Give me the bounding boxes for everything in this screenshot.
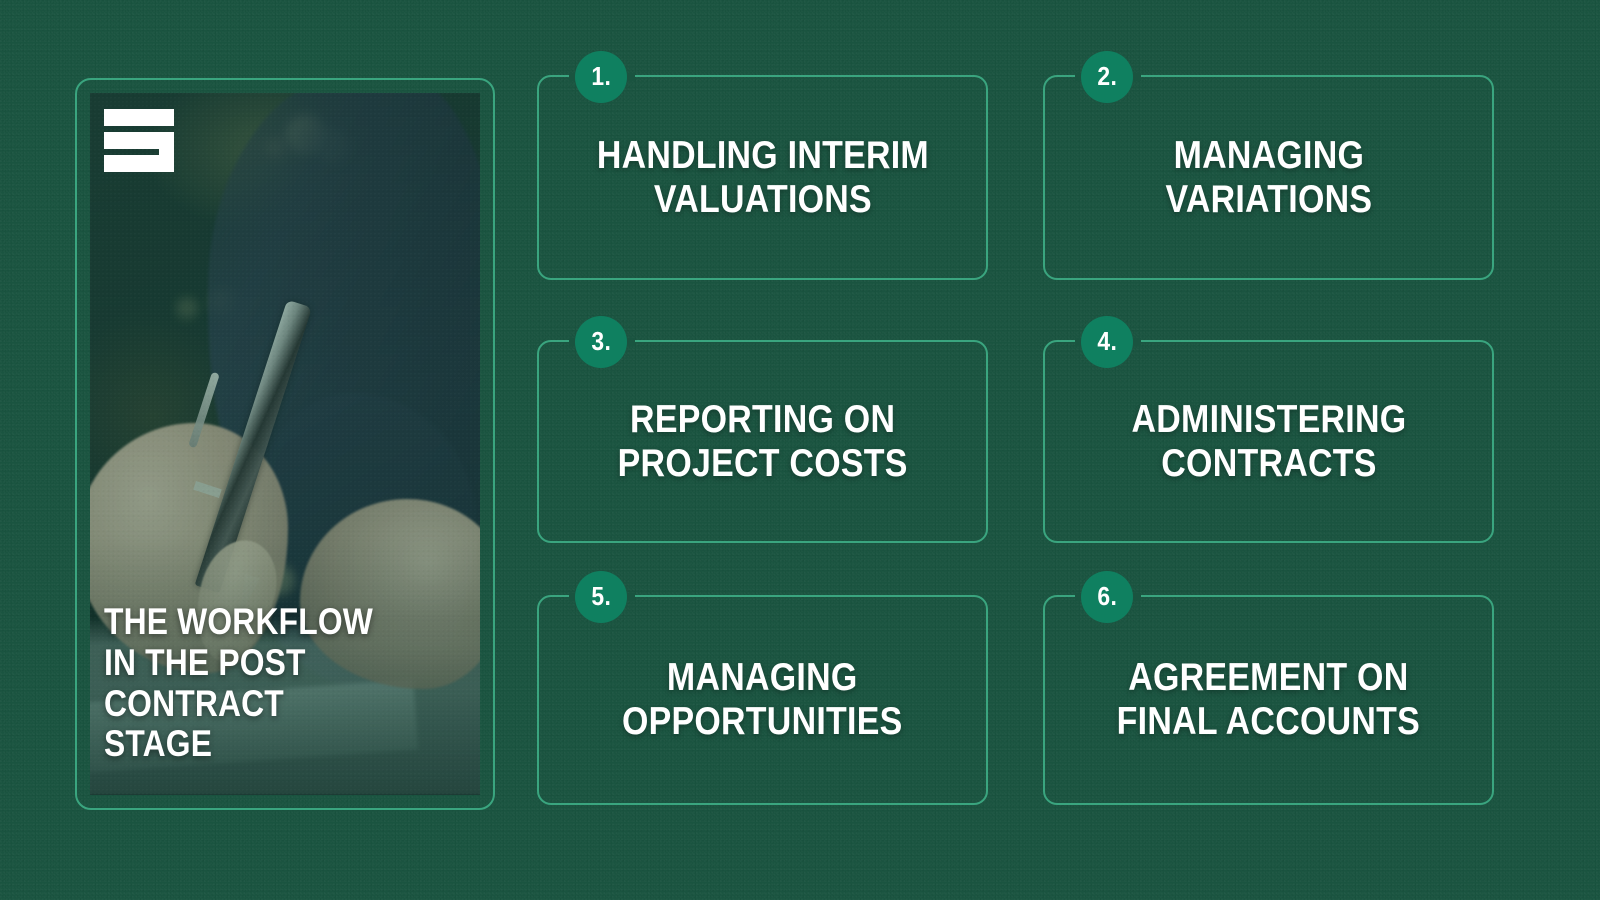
step-number-badge-1: 1. [575, 51, 627, 103]
step-card-6[interactable]: 6. AGREEMENT ON FINAL ACCOUNTS [1043, 595, 1494, 805]
photo-pen-clip [188, 372, 220, 449]
page-title: THE WORKFLOW IN THE POST CONTRACT STAGE [104, 602, 388, 765]
bokeh-light [286, 115, 326, 155]
feature-image-card: THE WORKFLOW IN THE POST CONTRACT STAGE [75, 78, 495, 810]
step-label-3: REPORTING ON PROJECT COSTS [604, 398, 922, 485]
step-number-1: 1. [591, 63, 611, 89]
step-number-5: 5. [591, 583, 611, 609]
step-number-2: 2. [1097, 63, 1117, 89]
step-number-6: 6. [1097, 583, 1117, 609]
step-label-5: MANAGING OPPORTUNITIES [608, 656, 916, 743]
step-card-1[interactable]: 1. HANDLING INTERIM VALUATIONS [537, 75, 988, 280]
step-card-5[interactable]: 5. MANAGING OPPORTUNITIES [537, 595, 988, 805]
step-number-badge-5: 5. [575, 571, 627, 623]
step-label-2: MANAGING VARIATIONS [1151, 134, 1386, 221]
photo-pen-band [193, 481, 221, 498]
bokeh-light [266, 137, 288, 159]
step-label-4: ADMINISTERING CONTRACTS [1117, 398, 1420, 485]
bokeh-light [176, 297, 198, 319]
infographic-canvas: THE WORKFLOW IN THE POST CONTRACT STAGE … [0, 0, 1600, 900]
step-number-3: 3. [591, 328, 611, 354]
step-label-6: AGREEMENT ON FINAL ACCOUNTS [1103, 656, 1434, 743]
step-number-4: 4. [1097, 328, 1117, 354]
bokeh-light [264, 565, 294, 595]
step-card-4[interactable]: 4. ADMINISTERING CONTRACTS [1043, 340, 1494, 543]
photo-suit-sleeve [208, 93, 480, 633]
step-number-badge-2: 2. [1081, 51, 1133, 103]
bokeh-light [315, 129, 349, 163]
step-card-2[interactable]: 2. MANAGING VARIATIONS [1043, 75, 1494, 280]
bokeh-light [237, 571, 269, 603]
company-logo [104, 107, 192, 177]
step-number-badge-3: 3. [575, 316, 627, 368]
step-card-3[interactable]: 3. REPORTING ON PROJECT COSTS [537, 340, 988, 543]
step-label-1: HANDLING INTERIM VALUATIONS [583, 134, 943, 221]
step-number-badge-4: 4. [1081, 316, 1133, 368]
feature-photo: THE WORKFLOW IN THE POST CONTRACT STAGE [90, 93, 480, 795]
step-number-badge-6: 6. [1081, 571, 1133, 623]
bokeh-light [210, 563, 244, 597]
bokeh-light [210, 289, 236, 315]
photo-fountain-pen [195, 300, 312, 593]
feature-caption: THE WORKFLOW IN THE POST CONTRACT STAGE [104, 602, 434, 765]
